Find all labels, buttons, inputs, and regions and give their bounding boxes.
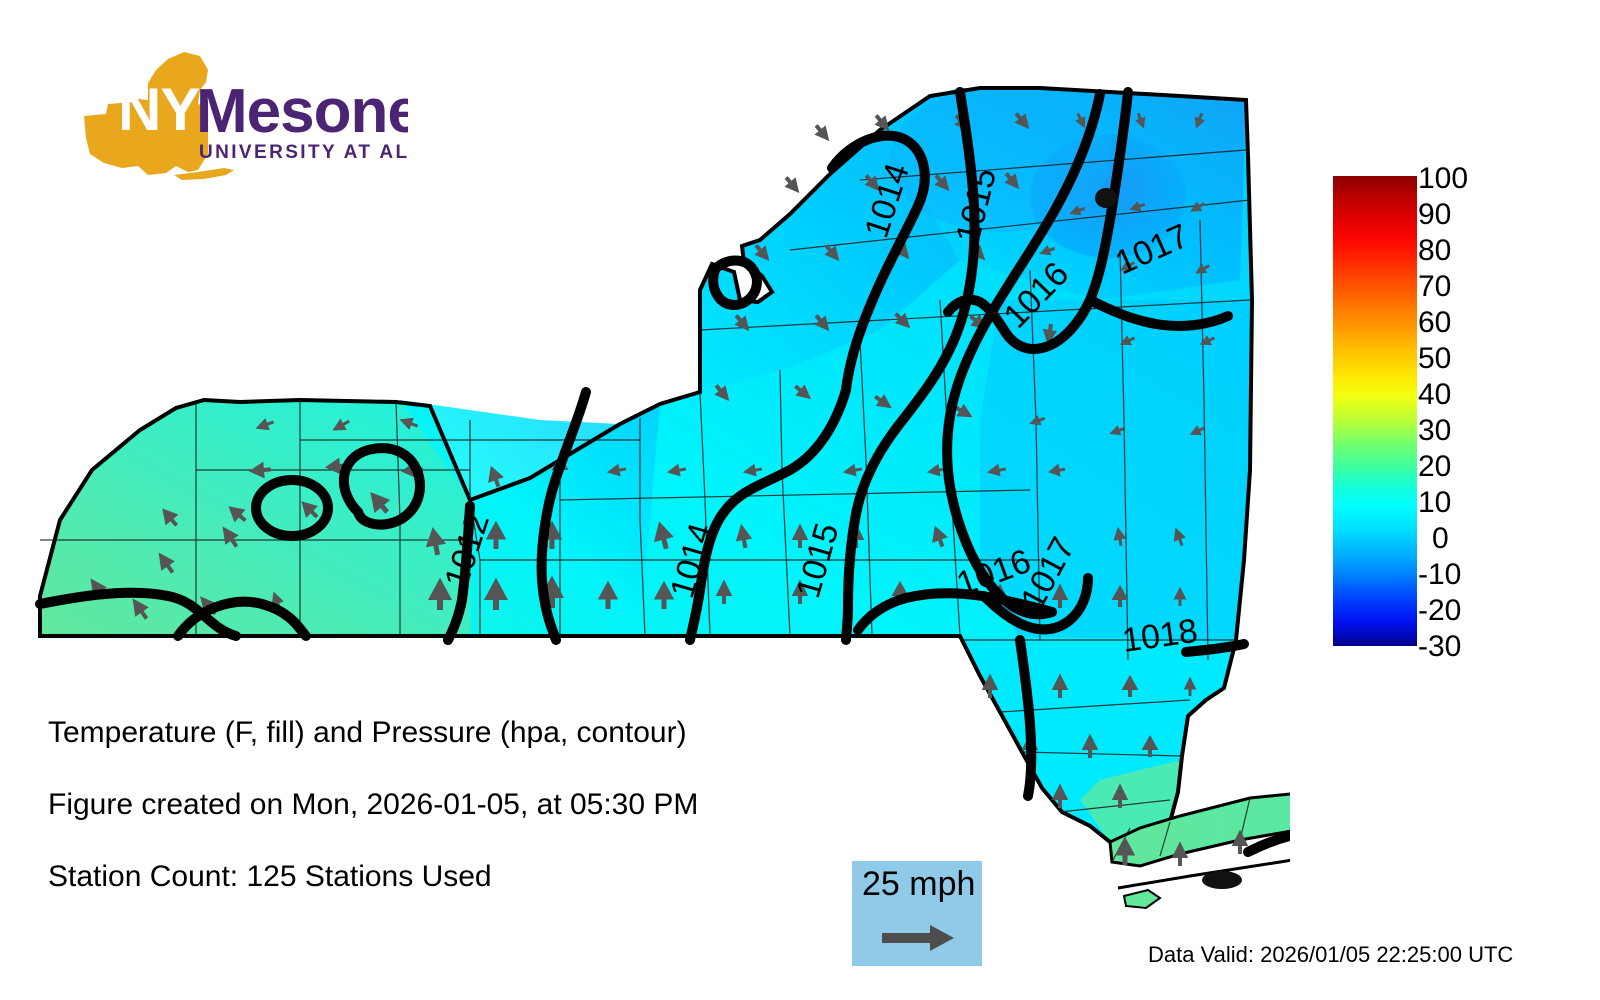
colorbar-tick: 20 xyxy=(1418,452,1451,482)
weather-map-figure: NYS Mesonet UNIVERSITY AT ALBANY xyxy=(0,0,1600,1000)
figure-caption: Temperature (F, fill) and Pressure (hpa,… xyxy=(48,718,808,934)
caption-station-count: Station Count: 125 Stations Used xyxy=(48,862,808,892)
colorbar-tick: -20 xyxy=(1418,596,1461,626)
colorbar-tick: 30 xyxy=(1418,416,1451,446)
colorbar-tick: 80 xyxy=(1418,236,1451,266)
colorbar-tick: 70 xyxy=(1418,272,1451,302)
colorbar-tick: -30 xyxy=(1418,632,1461,662)
data-valid-timestamp: Data Valid: 2026/01/05 22:25:00 UTC xyxy=(1148,944,1513,966)
temperature-colorbar: 100 90 80 70 60 50 40 30 20 10 0 -10 -20… xyxy=(1300,168,1590,668)
wind-speed-legend: 25 mph xyxy=(852,861,982,966)
colorbar-tick: 60 xyxy=(1418,308,1451,338)
staten-island-shape xyxy=(1124,890,1160,908)
station-marker xyxy=(1204,872,1240,888)
caption-created: Figure created on Mon, 2026-01-05, at 05… xyxy=(48,790,808,820)
caption-title: Temperature (F, fill) and Pressure (hpa,… xyxy=(48,718,808,748)
colorbar-tick: 40 xyxy=(1418,380,1451,410)
station-marker xyxy=(1095,188,1117,208)
colorbar-tick: 50 xyxy=(1418,344,1451,374)
colorbar-tick: -10 xyxy=(1418,560,1461,590)
colorbar-tick-labels: 100 90 80 70 60 50 40 30 20 10 0 -10 -20… xyxy=(1418,168,1538,654)
colorbar-tick: 10 xyxy=(1418,488,1451,518)
wind-legend-label: 25 mph xyxy=(862,867,975,901)
colorbar-tick: 0 xyxy=(1432,524,1449,554)
right-arrow-icon xyxy=(882,923,958,958)
colorbar-gradient xyxy=(1333,176,1417,646)
colorbar-tick: 100 xyxy=(1418,164,1468,194)
colorbar-tick: 90 xyxy=(1418,200,1451,230)
